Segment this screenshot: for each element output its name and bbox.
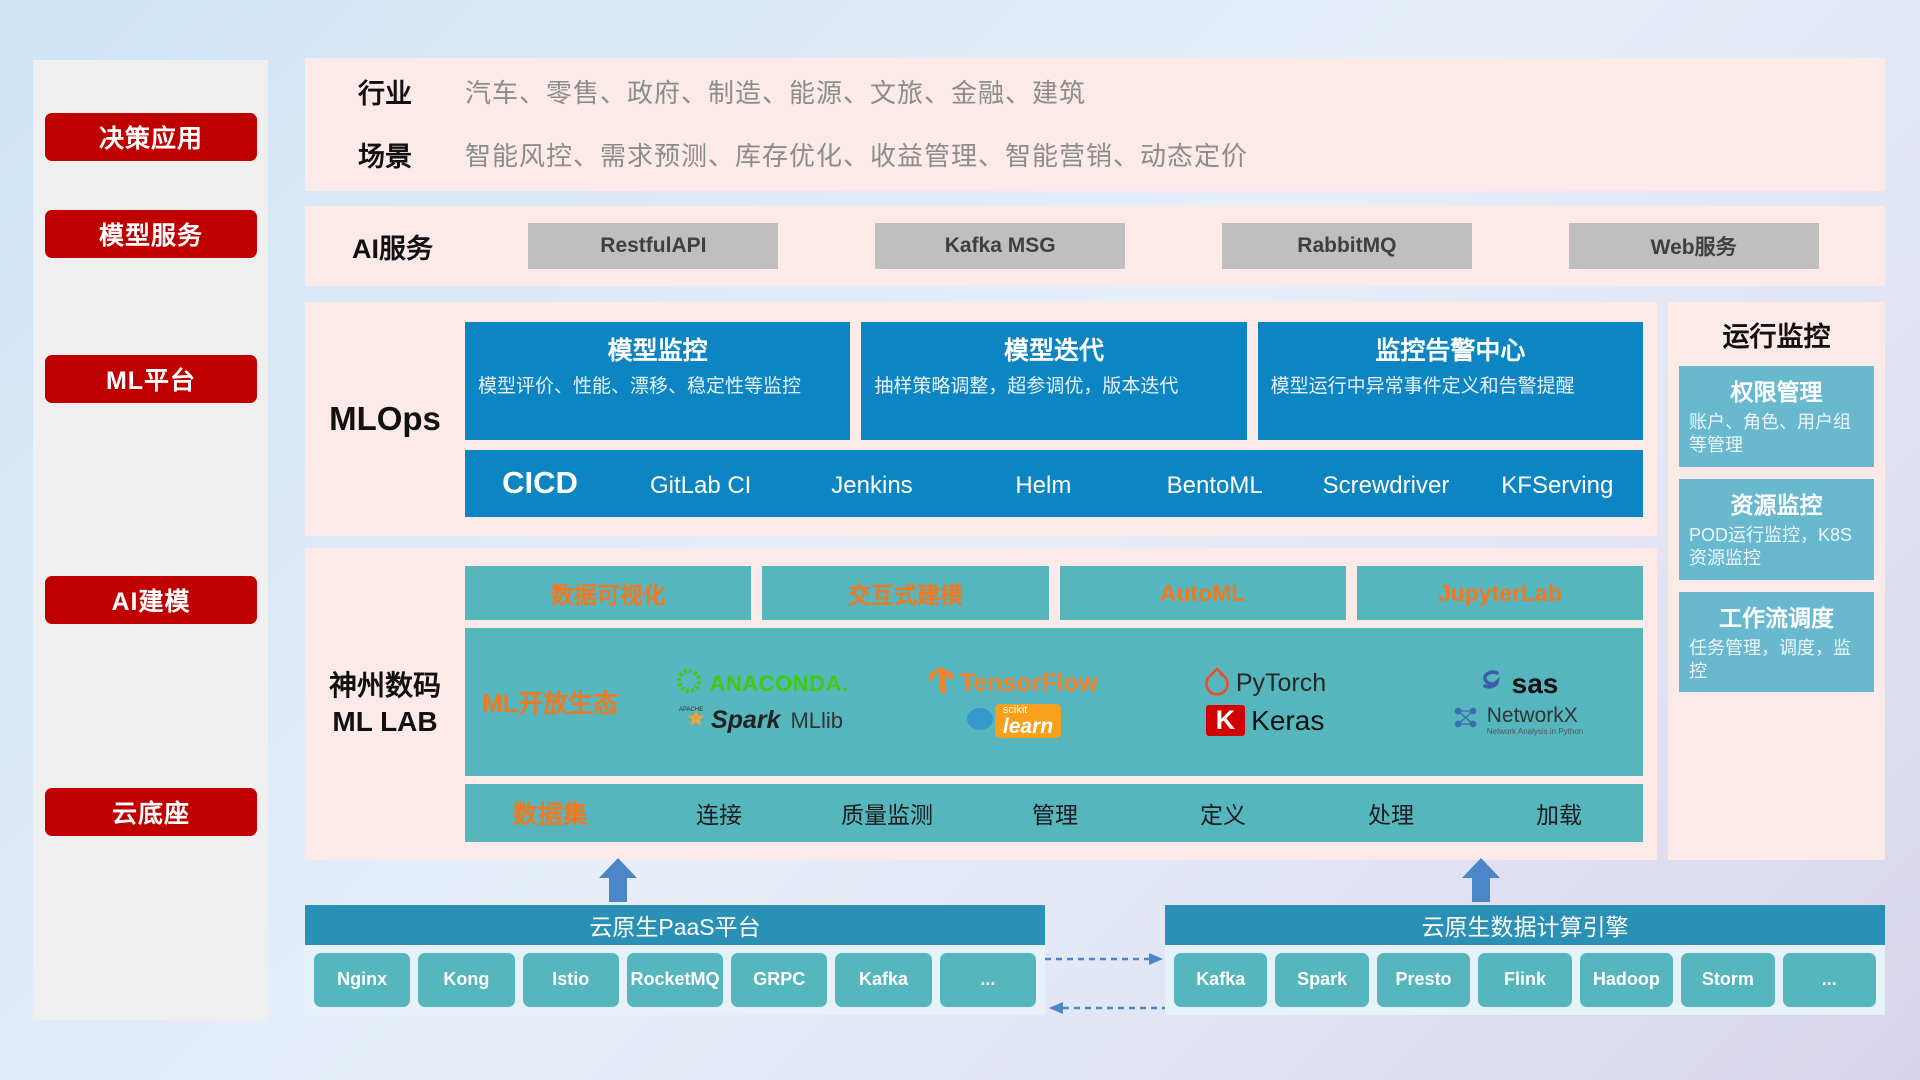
ai-service-label: AI服务 (305, 227, 480, 266)
engine-chip-presto[interactable]: Presto (1377, 953, 1470, 1007)
engine-chip-kafka[interactable]: Kafka (1174, 953, 1267, 1007)
service-chip-web[interactable]: Web服务 (1569, 223, 1819, 269)
card-title: 权限管理 (1689, 373, 1864, 407)
layer-rail: 决策应用 模型服务 ML平台 AI建模 云底座 (33, 60, 268, 1020)
card-desc: 抽样策略调整，超参调优，版本迭代 (874, 374, 1233, 399)
logo-scikit-learn: scikit learn (965, 703, 1061, 738)
tool-chip-jupyterlab[interactable]: JupyterLab (1357, 566, 1643, 620)
card-desc: POD运行监控，K8S资源监控 (1689, 524, 1864, 571)
cicd-item-kfserving[interactable]: KFServing (1472, 466, 1643, 500)
tool-chip-automl[interactable]: AutoML (1060, 566, 1346, 620)
eco-label: ML开放生态 (465, 684, 635, 720)
anaconda-icon (674, 666, 704, 701)
logo-label: sas (1512, 668, 1559, 700)
keras-icon: K (1206, 705, 1246, 736)
scene-list: 智能风控、需求预测、库存优化、收益管理、智能营销、动态定价 (465, 136, 1248, 173)
engine-chip-more[interactable]: ... (1783, 953, 1876, 1007)
dataset-item-manage[interactable]: 管理 (971, 796, 1139, 830)
networkx-icon (1451, 703, 1481, 738)
paas-chip-grpc[interactable]: GRPC (731, 953, 827, 1007)
scene-label: 场景 (305, 135, 465, 174)
ml-open-ecosystem: ML开放生态 ANACONDA. (465, 628, 1643, 776)
dataset-item-process[interactable]: 处理 (1307, 796, 1475, 830)
logo-label: learn (1003, 716, 1053, 737)
networkx-wordmark: NetworkX Network Analysis in Python (1487, 705, 1584, 735)
card-desc: 任务管理，调度，监控 (1689, 637, 1864, 684)
engine-chip-flink[interactable]: Flink (1478, 953, 1571, 1007)
mlops-label: MLOps (305, 400, 465, 438)
layer-button-cloud-base[interactable]: 云底座 (45, 788, 257, 836)
cicd-item-gitlab-ci[interactable]: GitLab CI (615, 466, 786, 500)
tool-chip-data-viz[interactable]: 数据可视化 (465, 566, 751, 620)
layer-label: 模型服务 (99, 216, 203, 252)
sas-icon (1476, 666, 1506, 701)
scikit-sup: scikit (1003, 705, 1053, 716)
mlops-card-model-monitoring[interactable]: 模型监控 模型评价、性能、漂移、稳定性等监控 (465, 322, 850, 440)
logo-keras: K Keras (1206, 705, 1325, 737)
paas-chip-kafka[interactable]: Kafka (835, 953, 931, 1007)
dataset-item-load[interactable]: 加载 (1475, 796, 1643, 830)
dataset-item-connect[interactable]: 连接 (635, 796, 803, 830)
card-title: 模型监控 (478, 331, 837, 367)
cloud-paas-title: 云原生PaaS平台 (305, 905, 1045, 945)
logo-label: ANACONDA. (710, 671, 849, 697)
cicd-item-helm[interactable]: Helm (958, 466, 1129, 500)
logo-networkx: NetworkX Network Analysis in Python (1451, 703, 1584, 738)
mlops-card-alert-center[interactable]: 监控告警中心 模型运行中异常事件定义和告警提醒 (1258, 322, 1643, 440)
engine-chip-spark[interactable]: Spark (1275, 953, 1368, 1007)
logo-sublabel: Network Analysis in Python (1487, 728, 1584, 736)
tensorflow-icon (928, 666, 954, 701)
arrow-right-dashed (1045, 951, 1167, 967)
layer-label: AI建模 (111, 582, 190, 618)
tool-chip-interactive-modeling[interactable]: 交互式建模 (762, 566, 1048, 620)
service-chip-kafka-msg[interactable]: Kafka MSG (875, 223, 1125, 269)
monitor-card-permission[interactable]: 权限管理 账户、角色、用户组等管理 (1679, 366, 1874, 467)
run-monitor-title: 运行监控 (1668, 302, 1885, 354)
card-desc: 账户、角色、用户组等管理 (1689, 411, 1864, 458)
decision-apps-band: 行业 汽车、零售、政府、制造、能源、文旅、金融、建筑 场景 智能风控、需求预测、… (305, 58, 1885, 191)
scikit-icon (965, 703, 995, 738)
cicd-item-jenkins[interactable]: Jenkins (786, 466, 957, 500)
cloud-data-engine-group: 云原生数据计算引擎 Kafka Spark Presto Flink Hadoo… (1165, 905, 1885, 1015)
logo-sas: sas (1476, 666, 1559, 701)
logo-label: Keras (1251, 705, 1324, 737)
cloud-paas-group: 云原生PaaS平台 Nginx Kong Istio RocketMQ GRPC… (305, 905, 1045, 1015)
ai-modeling-band: 神州数码 ML LAB 数据可视化 交互式建模 AutoML JupyterLa… (305, 548, 1657, 860)
card-desc: 模型运行中异常事件定义和告警提醒 (1271, 374, 1630, 399)
cicd-item-screwdriver[interactable]: Screwdriver (1300, 466, 1471, 500)
spark-wordmark: Spark (711, 706, 780, 735)
paas-chip-istio[interactable]: Istio (523, 953, 619, 1007)
cicd-bar: CICD GitLab CI Jenkins Helm BentoML Scre… (465, 450, 1643, 517)
arrow-left-dashed (1045, 1000, 1167, 1016)
industry-label: 行业 (305, 72, 465, 111)
logo-tensorflow: TensorFlow (928, 666, 1098, 701)
ai-service-band: AI服务 RestfulAPI Kafka MSG RabbitMQ Web服务 (305, 206, 1885, 286)
dataset-item-define[interactable]: 定义 (1139, 796, 1307, 830)
spark-icon: APACHE (679, 702, 709, 739)
mlops-band: MLOps 模型监控 模型评价、性能、漂移、稳定性等监控 模型迭代 抽样策略调整… (305, 302, 1657, 536)
paas-chip-nginx[interactable]: Nginx (314, 953, 410, 1007)
engine-chip-hadoop[interactable]: Hadoop (1580, 953, 1673, 1007)
svg-text:APACHE: APACHE (679, 707, 703, 713)
layer-button-ml-platform[interactable]: ML平台 (45, 355, 257, 403)
monitor-card-workflow[interactable]: 工作流调度 任务管理，调度，监控 (1679, 592, 1874, 693)
dataset-item-quality[interactable]: 质量监测 (803, 796, 971, 830)
layer-button-decision[interactable]: 决策应用 (45, 113, 257, 161)
cicd-title: CICD (465, 465, 615, 501)
up-arrow-paas (595, 856, 641, 902)
logo-label: NetworkX (1487, 705, 1584, 727)
run-monitor-panel: 运行监控 权限管理 账户、角色、用户组等管理 资源监控 POD运行监控，K8S资… (1668, 302, 1885, 860)
dataset-title: 数据集 (465, 795, 635, 831)
dataset-bar: 数据集 连接 质量监测 管理 定义 处理 加载 (465, 784, 1643, 842)
scikit-wordmark: scikit learn (995, 704, 1061, 738)
ml-lab-label-line1: 神州数码 (305, 668, 465, 704)
paas-chip-kong[interactable]: Kong (418, 953, 514, 1007)
ml-lab-label-line2: ML LAB (305, 704, 465, 740)
layer-label: 云底座 (112, 794, 190, 830)
layer-button-model-service[interactable]: 模型服务 (45, 210, 257, 258)
logo-anaconda: ANACONDA. (674, 666, 849, 701)
logo-label: TensorFlow (960, 669, 1098, 698)
logo-label: PyTorch (1236, 669, 1326, 698)
card-title: 工作流调度 (1689, 599, 1864, 633)
layer-label: 决策应用 (99, 119, 203, 155)
pytorch-icon (1204, 666, 1230, 701)
card-title: 监控告警中心 (1271, 331, 1630, 367)
engine-chip-storm[interactable]: Storm (1681, 953, 1774, 1007)
industry-list: 汽车、零售、政府、制造、能源、文旅、金融、建筑 (465, 73, 1086, 110)
monitor-card-resource[interactable]: 资源监控 POD运行监控，K8S资源监控 (1679, 479, 1874, 580)
logo-spark-mllib: APACHE Spark MLlib (679, 702, 843, 739)
service-chip-restfulapi[interactable]: RestfulAPI (528, 223, 778, 269)
service-chip-rabbitmq[interactable]: RabbitMQ (1222, 223, 1472, 269)
layer-label: ML平台 (106, 361, 196, 397)
layer-button-ai-modeling[interactable]: AI建模 (45, 576, 257, 624)
mlops-card-model-iteration[interactable]: 模型迭代 抽样策略调整，超参调优，版本迭代 (861, 322, 1246, 440)
logo-label: MLlib (790, 708, 843, 734)
paas-chip-more[interactable]: ... (940, 953, 1036, 1007)
card-desc: 模型评价、性能、漂移、稳定性等监控 (478, 374, 837, 399)
cicd-item-bentoml[interactable]: BentoML (1129, 466, 1300, 500)
paas-chip-rocketmq[interactable]: RocketMQ (627, 953, 723, 1007)
cloud-data-engine-title: 云原生数据计算引擎 (1165, 905, 1885, 945)
card-title: 资源监控 (1689, 486, 1864, 520)
up-arrow-data-engine (1458, 856, 1504, 902)
card-title: 模型迭代 (874, 331, 1233, 367)
ml-lab-label: 神州数码 ML LAB (305, 668, 465, 741)
logo-pytorch: PyTorch (1204, 666, 1326, 701)
